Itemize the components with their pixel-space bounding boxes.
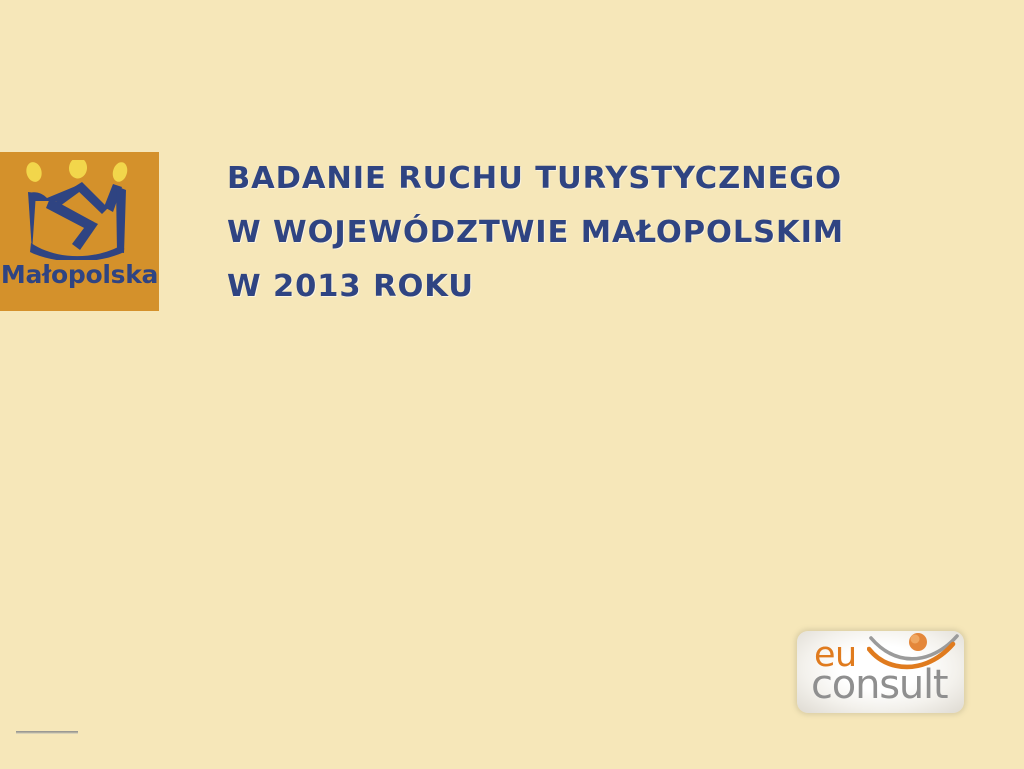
euconsult-logo: eu consult — [797, 631, 964, 713]
title-line-3: W 2013 ROKU — [227, 260, 997, 314]
euconsult-logo-inner: eu consult — [797, 631, 964, 713]
malopolska-logo: Małopolska — [0, 152, 159, 311]
malopolska-crown-icon — [16, 160, 144, 260]
page-title: BADANIE RUCHU TURYSTYCZNEGO W WOJEWÓDZTW… — [227, 152, 997, 314]
malopolska-wordmark: Małopolska — [0, 262, 159, 287]
title-slide: Małopolska BADANIE RUCHU TURYSTYCZNEGO W… — [0, 0, 1024, 769]
euconsult-consult-text: consult — [811, 665, 947, 705]
footer-rule — [16, 731, 78, 734]
title-line-1: BADANIE RUCHU TURYSTYCZNEGO — [227, 152, 997, 206]
title-line-2: W WOJEWÓDZTWIE MAŁOPOLSKIM — [227, 206, 997, 260]
